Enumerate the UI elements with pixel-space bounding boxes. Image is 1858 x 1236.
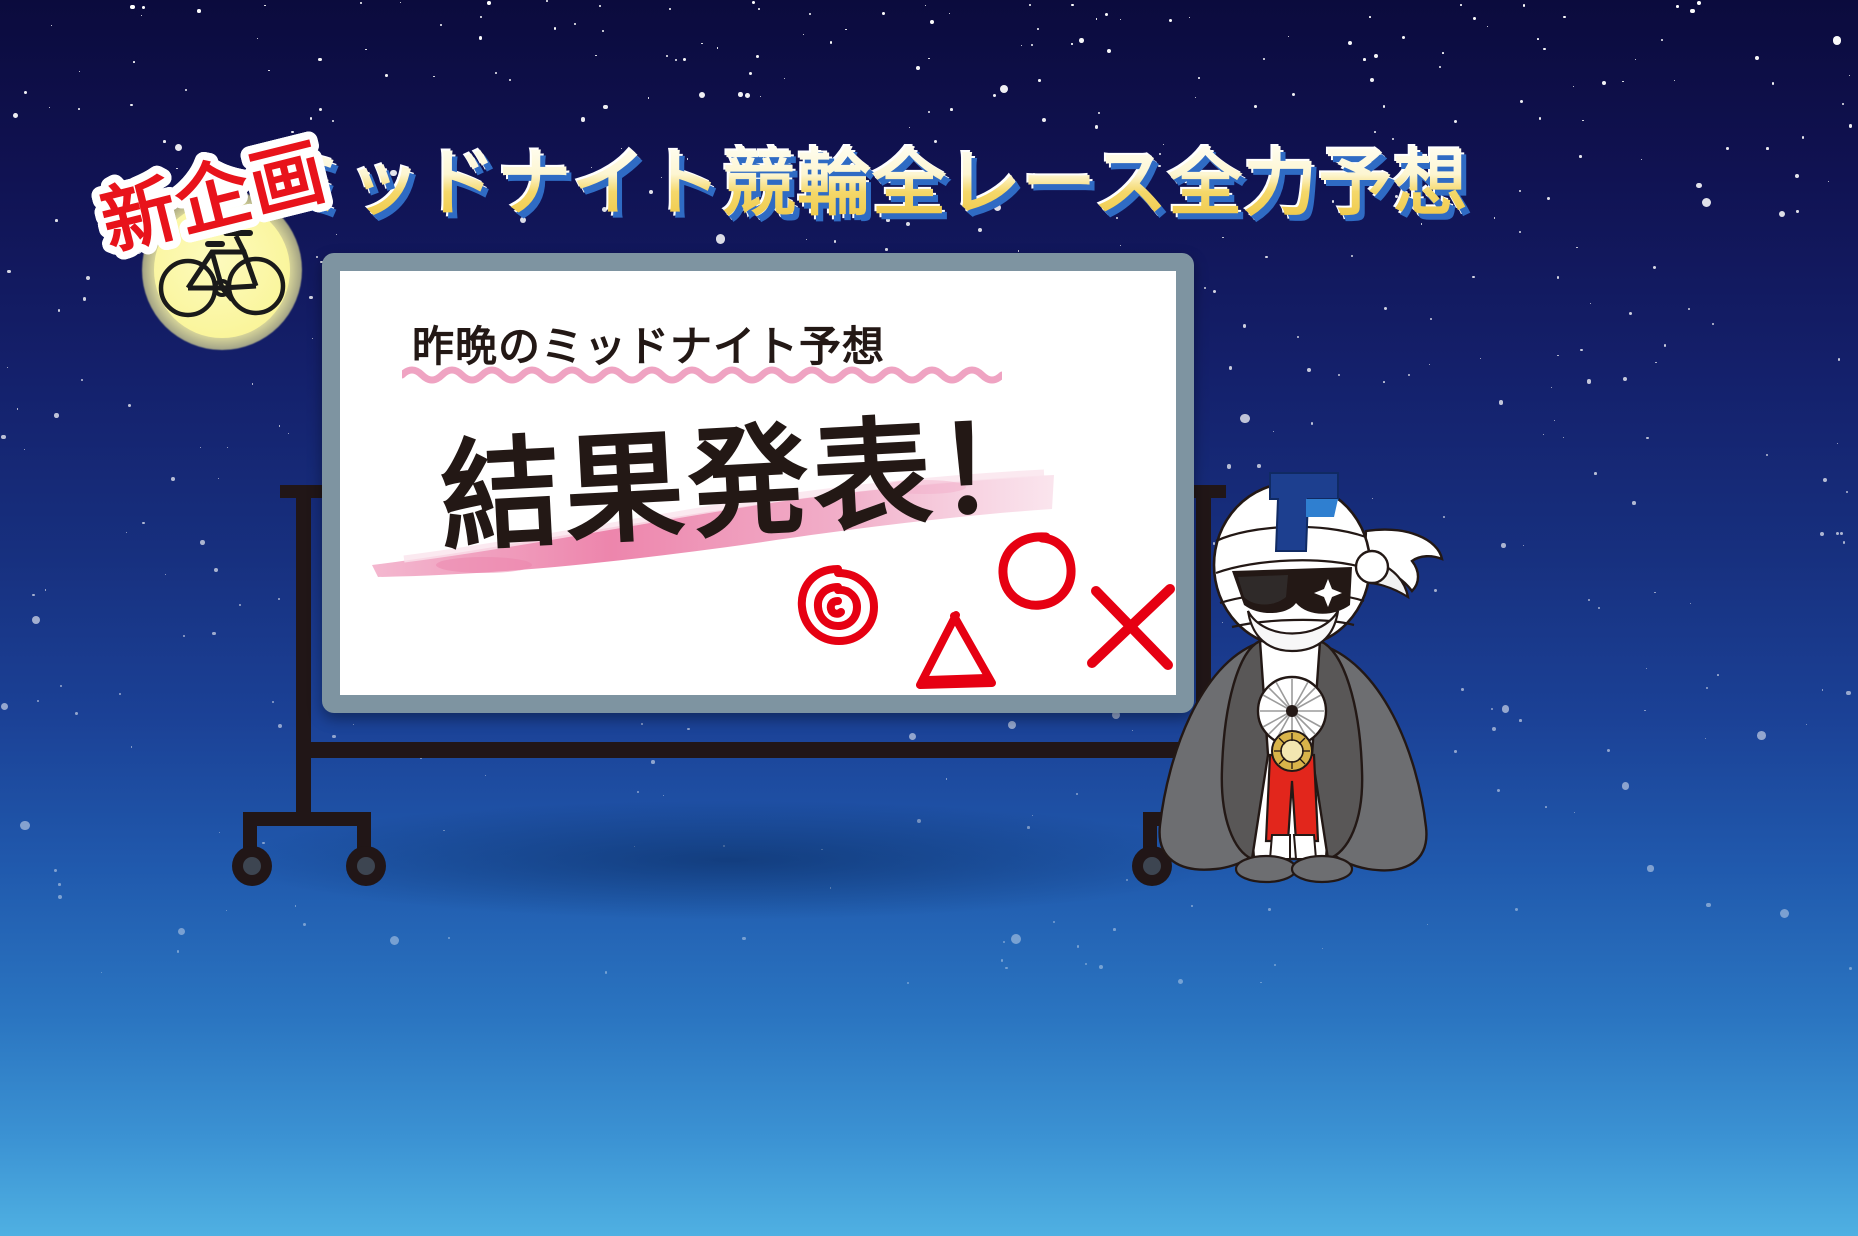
star — [1828, 181, 1829, 182]
star — [1000, 85, 1009, 94]
star — [978, 228, 982, 232]
star — [930, 20, 934, 24]
page-title: ミッドナイト競輪全レース全力予想 — [272, 146, 1468, 220]
star — [448, 937, 450, 939]
star — [1806, 724, 1807, 725]
star — [58, 883, 61, 886]
star — [1099, 965, 1103, 969]
star — [1780, 909, 1789, 918]
star — [257, 38, 259, 40]
star — [1213, 290, 1216, 293]
star — [1442, 52, 1444, 54]
star — [1454, 750, 1457, 753]
star — [214, 568, 218, 572]
star — [318, 58, 322, 62]
star — [32, 616, 40, 624]
star — [1095, 125, 1099, 129]
star — [1384, 307, 1388, 311]
star — [1120, 19, 1121, 20]
star — [219, 832, 220, 833]
star — [909, 127, 910, 128]
star — [1635, 59, 1636, 60]
star — [701, 43, 702, 44]
star — [7, 367, 9, 369]
star — [1849, 75, 1850, 76]
star — [1820, 532, 1825, 537]
star — [1705, 738, 1707, 740]
star — [1647, 865, 1653, 871]
star — [1836, 532, 1839, 535]
star — [1383, 105, 1386, 108]
star — [1607, 749, 1610, 752]
star — [1169, 19, 1172, 22]
star — [546, 0, 548, 2]
star — [390, 936, 399, 945]
star — [928, 111, 930, 113]
star — [278, 724, 282, 728]
star — [312, 338, 313, 339]
star — [200, 447, 201, 448]
star — [1849, 124, 1853, 128]
star — [226, 910, 227, 911]
star — [1646, 668, 1647, 669]
star — [1430, 318, 1433, 321]
star — [605, 971, 608, 974]
star — [509, 79, 511, 81]
star — [1598, 607, 1600, 609]
star — [717, 47, 719, 49]
star — [1487, 26, 1489, 28]
star — [1796, 210, 1798, 212]
star — [1499, 400, 1504, 405]
star — [1842, 103, 1845, 106]
star — [1322, 948, 1323, 949]
star — [1098, 112, 1100, 114]
star — [128, 404, 131, 407]
star — [1755, 56, 1759, 60]
star — [75, 712, 78, 715]
star — [1369, 16, 1371, 18]
star — [758, 8, 760, 10]
star — [1655, 362, 1657, 364]
star — [1311, 422, 1314, 425]
star — [1494, 217, 1495, 218]
star — [141, 15, 142, 16]
star — [178, 928, 185, 935]
star — [1594, 472, 1597, 475]
star — [675, 59, 677, 61]
star — [742, 937, 746, 941]
star — [1402, 36, 1405, 39]
star — [227, 447, 228, 448]
star — [1766, 454, 1768, 456]
star — [834, 240, 837, 243]
star — [1195, 97, 1197, 99]
star — [1833, 36, 1842, 45]
star — [316, 256, 318, 258]
star — [1038, 79, 1041, 82]
star — [319, 108, 322, 111]
star — [433, 76, 435, 78]
star — [1712, 323, 1714, 325]
star — [54, 869, 57, 872]
star — [1576, 247, 1578, 249]
star — [1629, 312, 1632, 315]
star — [1537, 38, 1539, 40]
star — [1557, 355, 1559, 357]
star — [1557, 276, 1560, 279]
star — [142, 522, 144, 524]
star — [142, 6, 145, 9]
star — [809, 13, 811, 15]
star — [51, 25, 52, 26]
star — [58, 309, 61, 312]
star — [1644, 710, 1646, 712]
star — [1602, 81, 1606, 85]
star — [1543, 48, 1546, 51]
star — [1697, 1, 1701, 5]
star — [119, 693, 121, 695]
star — [648, 97, 650, 99]
star — [946, 778, 947, 779]
star — [1588, 599, 1590, 601]
star — [239, 604, 241, 606]
star — [1222, 237, 1223, 238]
star — [1, 435, 6, 440]
star — [60, 685, 62, 687]
star — [651, 760, 655, 764]
star — [1554, 420, 1555, 421]
star — [1822, 689, 1824, 691]
star — [1757, 731, 1766, 740]
star — [784, 78, 785, 79]
star — [1590, 303, 1591, 304]
star — [1837, 443, 1838, 444]
star — [480, 16, 482, 18]
star — [1254, 105, 1257, 108]
star — [1515, 908, 1518, 911]
star — [177, 950, 180, 953]
star — [1676, 5, 1679, 8]
star — [1079, 38, 1084, 43]
star — [212, 632, 216, 636]
star — [1408, 374, 1410, 376]
star — [1690, 603, 1691, 604]
star — [1338, 374, 1340, 376]
stand-left-post — [296, 485, 311, 825]
star — [1491, 708, 1493, 710]
star — [699, 92, 705, 98]
star — [637, 791, 639, 793]
star — [1674, 80, 1676, 82]
star — [1229, 366, 1233, 370]
star — [1766, 147, 1769, 150]
star — [1307, 368, 1311, 372]
star — [666, 55, 669, 58]
star — [1641, 159, 1642, 160]
star — [1523, 4, 1525, 6]
star — [131, 746, 133, 748]
star — [1646, 437, 1649, 440]
star — [1204, 287, 1207, 290]
star — [1005, 967, 1007, 969]
stand-crossbar — [296, 742, 1211, 758]
star — [171, 477, 175, 481]
star — [495, 72, 497, 74]
star — [1702, 198, 1711, 207]
star — [1363, 58, 1366, 61]
star — [1031, 44, 1034, 47]
star — [1008, 721, 1016, 729]
star — [885, 248, 888, 251]
star — [1348, 41, 1352, 45]
star — [1653, 266, 1657, 270]
star — [949, 13, 950, 14]
star — [554, 27, 556, 29]
star — [332, 735, 336, 739]
star — [1563, 16, 1565, 18]
star — [130, 5, 135, 10]
star — [1654, 592, 1655, 593]
star — [1772, 82, 1774, 84]
stand-left-foot-bar — [243, 812, 371, 826]
star — [1688, 308, 1690, 310]
star — [54, 413, 59, 418]
star — [1579, 155, 1582, 158]
star — [24, 449, 25, 450]
star — [1849, 967, 1852, 970]
star — [1726, 147, 1729, 150]
star — [1664, 344, 1666, 346]
star — [37, 700, 39, 702]
star — [353, 724, 354, 725]
star — [1071, 43, 1072, 44]
star — [45, 589, 47, 591]
star — [133, 61, 135, 63]
star — [1795, 174, 1800, 179]
star — [1573, 86, 1574, 87]
star — [1661, 39, 1663, 41]
star — [1001, 959, 1003, 961]
star — [20, 821, 29, 830]
star — [58, 895, 62, 899]
star — [603, 105, 608, 110]
whiteboard-surface: 昨晩のミッドナイト予想 結果発表！ — [340, 271, 1176, 695]
star — [78, 108, 80, 110]
star — [268, 70, 270, 72]
star — [185, 89, 187, 91]
star — [1085, 963, 1087, 965]
star — [1037, 28, 1039, 30]
star — [950, 108, 953, 111]
double-circle-mark-icon — [792, 559, 884, 651]
star — [1243, 324, 1247, 328]
star — [1519, 231, 1521, 233]
star — [1519, 719, 1522, 722]
star — [487, 1, 491, 5]
star — [101, 972, 102, 973]
star — [1003, 941, 1005, 943]
star — [1105, 13, 1108, 16]
star — [683, 58, 686, 61]
star — [1113, 928, 1116, 931]
star — [183, 635, 186, 638]
star — [1547, 197, 1550, 200]
star — [1523, 545, 1525, 547]
star — [197, 9, 201, 13]
star — [81, 379, 83, 381]
star — [1274, 964, 1276, 966]
star — [1622, 81, 1623, 82]
star — [336, 234, 337, 235]
star — [485, 775, 486, 776]
star — [602, 30, 604, 32]
star — [1018, 250, 1020, 252]
circle-mark-icon — [994, 527, 1080, 613]
star — [1492, 727, 1496, 731]
star — [200, 540, 205, 545]
star — [1042, 118, 1046, 122]
star — [130, 104, 133, 107]
star — [845, 29, 846, 30]
star — [218, 478, 219, 479]
star — [1297, 336, 1299, 338]
star — [163, 140, 166, 143]
star — [599, 5, 601, 7]
star — [1076, 793, 1079, 796]
star — [1539, 117, 1542, 120]
star — [1288, 36, 1289, 37]
star — [1189, 17, 1191, 19]
star — [1178, 979, 1183, 984]
star — [1587, 379, 1591, 383]
star — [1802, 136, 1804, 138]
star — [1501, 543, 1506, 548]
star — [1717, 674, 1719, 676]
star — [1632, 501, 1636, 505]
caster-wheel-left-front — [232, 846, 272, 886]
star — [1240, 414, 1250, 424]
bandaged-keirin-mascot — [1120, 455, 1450, 915]
star — [1263, 58, 1265, 60]
star — [1497, 789, 1500, 792]
star — [1374, 131, 1376, 133]
star — [1120, 245, 1121, 246]
star — [360, 2, 362, 4]
star — [385, 74, 388, 77]
star — [1461, 688, 1464, 691]
star — [400, 2, 401, 3]
star — [1351, 255, 1353, 257]
star — [1574, 812, 1575, 813]
star — [745, 93, 750, 98]
star — [1454, 120, 1457, 123]
star — [1582, 120, 1584, 122]
star — [1823, 478, 1827, 482]
caster-wheel-left-back — [346, 846, 386, 886]
star — [1198, 77, 1200, 79]
star — [882, 12, 885, 15]
star — [581, 117, 585, 121]
star — [925, 5, 926, 6]
star — [252, 383, 254, 385]
star — [1519, 190, 1521, 192]
star — [1840, 532, 1843, 535]
star — [1622, 782, 1630, 790]
star — [86, 276, 90, 280]
whiteboard: 昨晩のミッドナイト予想 結果発表！ — [322, 253, 1194, 713]
star — [1011, 934, 1021, 944]
star — [1071, 4, 1074, 7]
star — [1563, 437, 1564, 438]
star — [1292, 93, 1295, 96]
star — [1096, 18, 1098, 20]
star — [1473, 17, 1476, 20]
star — [1846, 691, 1851, 696]
star — [752, 1, 755, 4]
star — [1706, 687, 1708, 689]
star — [79, 71, 80, 72]
star — [749, 72, 752, 75]
star — [1480, 358, 1481, 359]
star — [83, 297, 87, 301]
star — [1580, 349, 1582, 351]
star — [716, 234, 725, 243]
star — [1551, 387, 1552, 388]
star — [55, 219, 58, 222]
star — [738, 92, 743, 97]
star — [1374, 54, 1378, 58]
star — [17, 408, 19, 410]
star — [909, 733, 916, 740]
star — [49, 107, 50, 108]
star — [7, 270, 11, 274]
star — [1029, 4, 1031, 6]
star — [365, 49, 367, 51]
star — [1502, 705, 1510, 713]
star — [1383, 381, 1385, 383]
star — [1370, 78, 1375, 83]
star — [928, 58, 930, 60]
star — [1427, 924, 1428, 925]
star — [574, 23, 576, 25]
star — [1273, 431, 1274, 432]
star — [1260, 982, 1261, 983]
star — [1779, 211, 1785, 217]
star — [279, 425, 281, 427]
star — [806, 239, 807, 240]
star — [1843, 541, 1846, 544]
triangle-mark-icon — [908, 607, 1004, 695]
star — [1543, 434, 1544, 435]
star — [1838, 358, 1841, 361]
board-main-heading: 結果発表！ — [435, 369, 1063, 575]
star — [272, 701, 274, 703]
star — [1053, 921, 1055, 923]
star — [303, 923, 306, 926]
star — [24, 91, 27, 94]
star — [1690, 9, 1695, 14]
star — [1696, 183, 1702, 189]
star — [1265, 256, 1268, 259]
star — [1, 703, 8, 710]
star — [1846, 491, 1848, 493]
stand-left-cap — [280, 485, 326, 498]
star — [1472, 276, 1474, 278]
star — [32, 594, 34, 596]
star — [916, 66, 920, 70]
star — [278, 598, 281, 601]
